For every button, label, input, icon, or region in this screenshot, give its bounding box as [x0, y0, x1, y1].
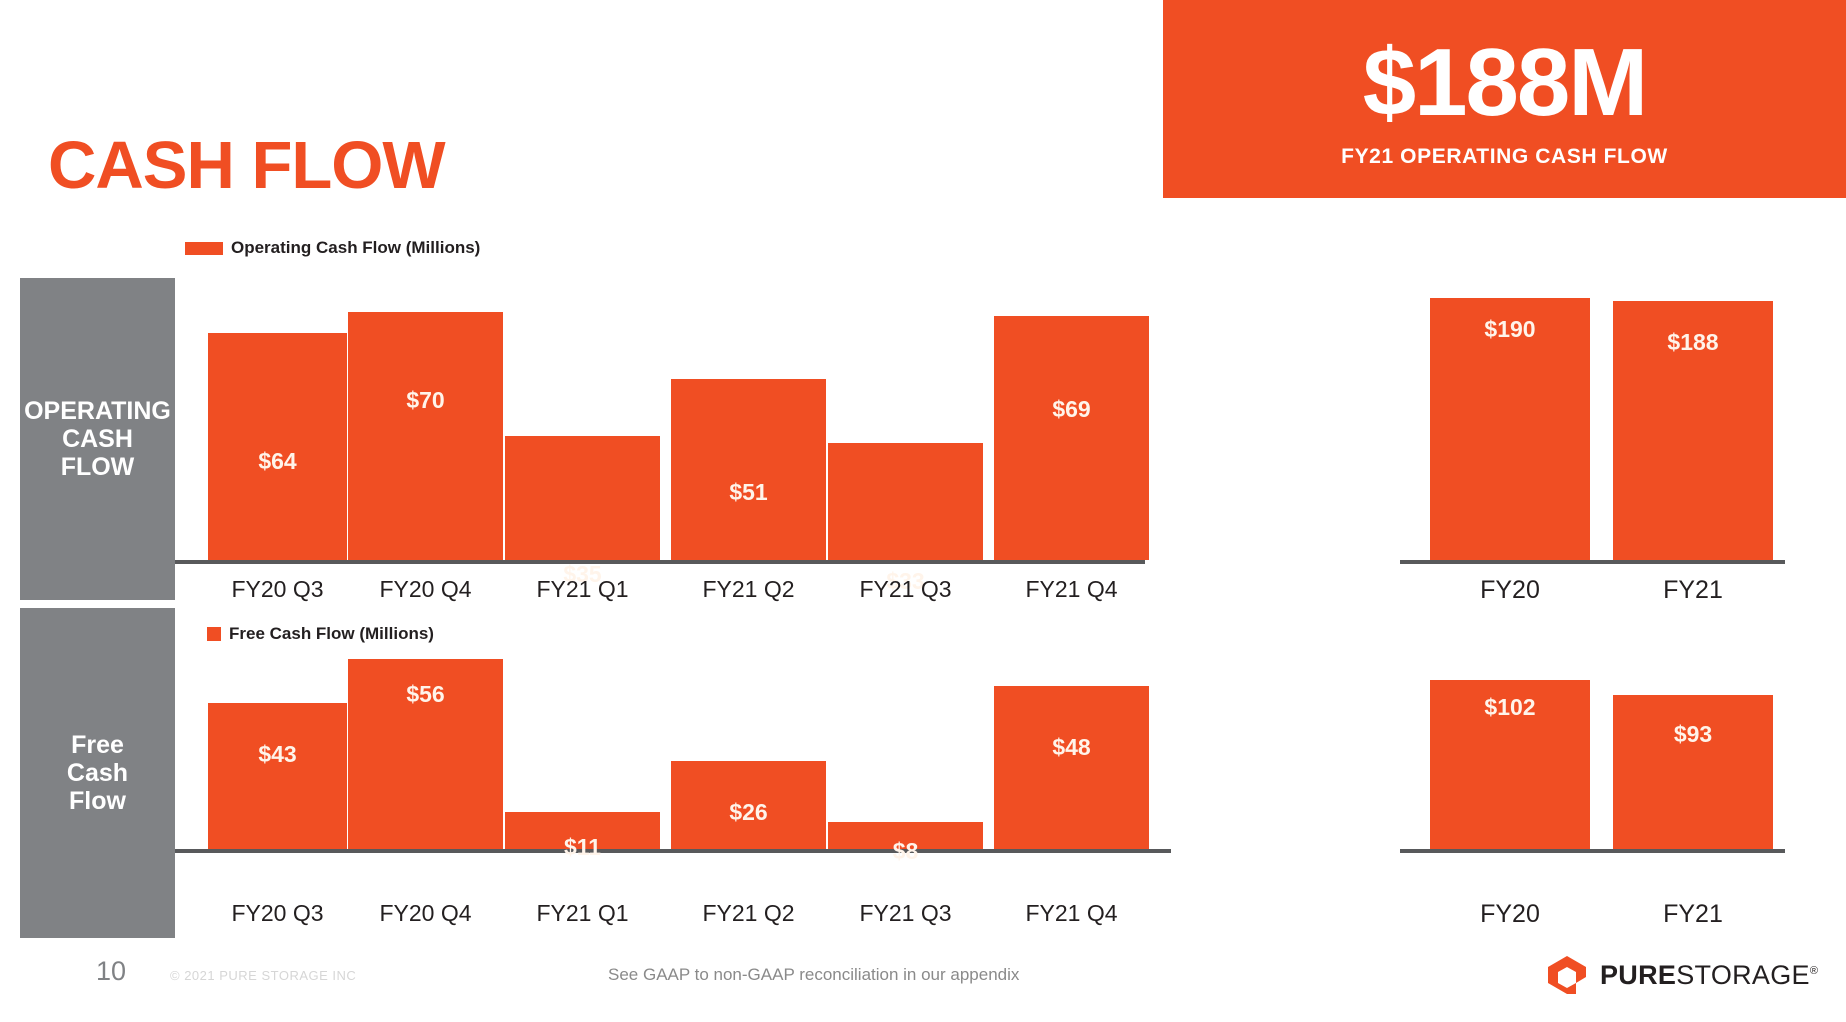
bar-fy20-q3[interactable]: $64 [208, 333, 347, 560]
bar-fy21-q4[interactable]: $69 [994, 316, 1149, 560]
bar-fy21-q3[interactable]: $33 [828, 443, 983, 560]
category-label: FY20 Q4 [348, 902, 503, 925]
category-label: FY21 Q4 [994, 578, 1149, 601]
kpi-label: FY21 OPERATING CASH FLOW [1341, 145, 1668, 169]
bar-fy20[interactable]: $102 [1430, 680, 1590, 849]
section-label-operating-text: OPERATING CASH FLOW [24, 397, 171, 481]
category-label: FY21 [1613, 578, 1773, 603]
x-axis-line [175, 560, 1145, 564]
bar-fy20-q4[interactable]: $56 [348, 659, 503, 849]
bar-value-label: $43 [208, 741, 347, 768]
section-label-free-text: Free Cash Flow [67, 731, 128, 815]
logo-storage: STORAGE [1676, 960, 1810, 990]
section-label-operating-cash-flow: OPERATING CASH FLOW [20, 278, 175, 600]
panel-free-quarterly: $43FY20 Q3$56FY20 Q4$11FY21 Q1$26FY21 Q2… [175, 610, 1180, 950]
bar-value-label: $26 [671, 799, 826, 826]
chart-free-cash-flow: Free Cash Flow (Millions) $43FY20 Q3$56F… [175, 610, 1835, 950]
bar-fy21-q1[interactable]: $35 [505, 436, 660, 560]
category-label: FY20 Q3 [208, 578, 347, 601]
pure-storage-logo: PURESTORAGE® [1545, 955, 1818, 995]
bar-fy21-q1[interactable]: $11 [505, 812, 660, 849]
category-label: FY20 Q4 [348, 578, 503, 601]
category-label: FY21 Q4 [994, 902, 1149, 925]
kpi-callout: $188M FY21 OPERATING CASH FLOW [1163, 0, 1846, 198]
bar-value-label: $64 [208, 448, 347, 475]
bar-value-label: $56 [348, 681, 503, 708]
pure-storage-mark-icon [1545, 955, 1589, 995]
category-label: FY20 [1430, 578, 1590, 603]
bar-fy21-q2[interactable]: $51 [671, 379, 826, 560]
bar-fy21[interactable]: $93 [1613, 695, 1773, 849]
chart-operating-cash-flow: Operating Cash Flow (Millions) $64FY20 Q… [175, 230, 1835, 600]
category-label: FY20 [1430, 902, 1590, 927]
bar-fy20[interactable]: $190 [1430, 298, 1590, 560]
category-label: FY21 Q2 [671, 578, 826, 601]
category-label: FY21 [1613, 902, 1773, 927]
bar-fy21-q3[interactable]: $8 [828, 822, 983, 849]
page-number: 10 [96, 956, 126, 987]
bar-value-label: $93 [1613, 721, 1773, 748]
logo-registered: ® [1810, 965, 1818, 977]
panel-free-annual: $102FY20$93FY21 [1205, 610, 1835, 950]
bar-value-label: $11 [505, 834, 660, 861]
x-axis-line [1400, 560, 1785, 564]
category-label: FY21 Q1 [505, 578, 660, 601]
category-label: FY21 Q3 [828, 578, 983, 601]
bar-fy21[interactable]: $188 [1613, 301, 1773, 560]
category-label: FY20 Q3 [208, 902, 347, 925]
bar-value-label: $51 [671, 479, 826, 506]
bar-fy21-q4[interactable]: $48 [994, 686, 1149, 849]
bar-value-label: $102 [1430, 694, 1590, 721]
bar-value-label: $190 [1430, 316, 1590, 343]
slide-canvas: $188M FY21 OPERATING CASH FLOW CASH FLOW… [0, 0, 1846, 1022]
bar-fy20-q4[interactable]: $70 [348, 312, 503, 560]
copyright-notice: © 2021 PURE STORAGE INC [170, 968, 356, 983]
panel-operating-quarterly: $64FY20 Q3$70FY20 Q4$35FY21 Q1$51FY21 Q2… [175, 230, 1150, 600]
bar-value-label: $8 [828, 838, 983, 865]
kpi-value: $188M [1363, 35, 1647, 131]
pure-storage-wordmark: PURESTORAGE® [1600, 960, 1818, 991]
bar-value-label: $70 [348, 387, 503, 414]
bar-fy21-q2[interactable]: $26 [671, 761, 826, 849]
bar-value-label: $69 [994, 396, 1149, 423]
logo-pure: PURE [1600, 960, 1676, 990]
category-label: FY21 Q3 [828, 902, 983, 925]
section-label-free-cash-flow: Free Cash Flow [20, 608, 175, 938]
bar-value-label: $48 [994, 734, 1149, 761]
bar-fy20-q3[interactable]: $43 [208, 703, 347, 849]
page-title: CASH FLOW [48, 132, 445, 199]
category-label: FY21 Q1 [505, 902, 660, 925]
gaap-footnote: See GAAP to non-GAAP reconciliation in o… [608, 965, 1019, 985]
bar-value-label: $188 [1613, 329, 1773, 356]
x-axis-line [175, 849, 1171, 853]
category-label: FY21 Q2 [671, 902, 826, 925]
panel-operating-annual: $190FY20$188FY21 [1205, 230, 1835, 600]
x-axis-line [1400, 849, 1785, 853]
